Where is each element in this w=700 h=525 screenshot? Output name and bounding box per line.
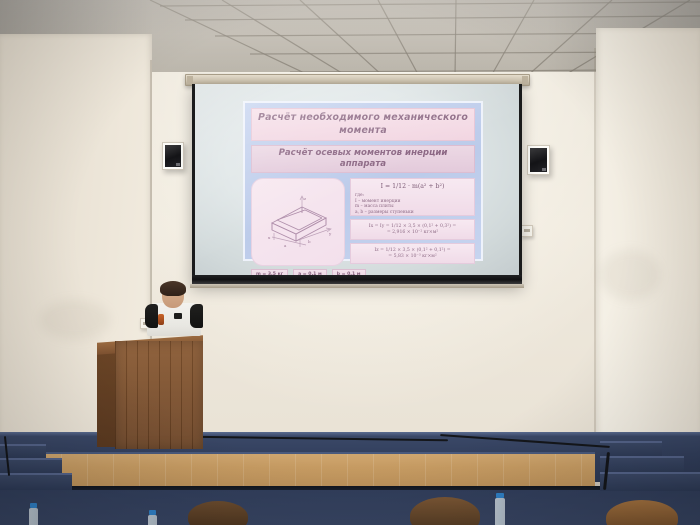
svg-text:x: x bbox=[268, 235, 271, 240]
screen-weight-bar bbox=[192, 275, 522, 284]
wall-speaker-right bbox=[527, 145, 550, 175]
stage-front-panel bbox=[35, 452, 595, 490]
presenter-at-podium bbox=[146, 283, 202, 335]
svg-text:y: y bbox=[328, 231, 332, 236]
outlet-slot bbox=[524, 229, 530, 232]
svg-text:z: z bbox=[304, 196, 306, 201]
water-bottle bbox=[495, 493, 505, 525]
svg-text:b: b bbox=[308, 239, 311, 244]
slide-body: z y x a b I = 1/12 · m(a² + b²) где: I –… bbox=[251, 178, 475, 264]
slide-title: Расчёт необходимого механического момент… bbox=[251, 108, 475, 141]
right-wall bbox=[596, 28, 700, 458]
speaker-badge bbox=[176, 163, 180, 166]
wall-speaker-left bbox=[162, 142, 184, 170]
shirt-logo bbox=[174, 313, 182, 319]
case-end-cap bbox=[522, 76, 528, 83]
step bbox=[600, 472, 700, 491]
slide-subtitle: Расчёт осевых моментов инерции аппарата bbox=[251, 145, 475, 173]
projection-screen: Расчёт необходимого механического момент… bbox=[192, 84, 522, 284]
screen-surface: Расчёт необходимого механического момент… bbox=[195, 84, 519, 275]
wall-smudge bbox=[600, 250, 660, 300]
slide-figure-panel: z y x a b bbox=[251, 178, 345, 266]
formula-block-calc-z: Iz = 1/12 × 3,5 × (0,1² + 0,1²) = = 5,83… bbox=[350, 243, 475, 264]
step bbox=[0, 473, 72, 490]
podium-front-panel bbox=[115, 341, 203, 449]
bottle-body bbox=[495, 498, 505, 525]
audience-head bbox=[188, 501, 248, 525]
wooden-podium bbox=[97, 331, 203, 449]
podium-side-panel bbox=[97, 347, 116, 447]
calc-line: = 5,83 × 10⁻³ кг×м² bbox=[355, 254, 470, 260]
floor-carpet bbox=[0, 490, 700, 525]
water-bottle bbox=[148, 510, 157, 525]
formula-block-main: I = 1/12 · m(a² + b²) где: I – момент ин… bbox=[350, 178, 475, 216]
lecture-hall-photo: Расчёт необходимого механического момент… bbox=[0, 0, 700, 525]
svg-text:a: a bbox=[284, 243, 287, 248]
slide-formula-column: I = 1/12 · m(a² + b²) где: I – момент ин… bbox=[350, 178, 475, 264]
calc-line: = 2,916 × 10⁻² кг×м² bbox=[355, 230, 470, 236]
speaker-badge bbox=[542, 168, 546, 171]
presentation-slide: Расчёт необходимого механического момент… bbox=[243, 101, 483, 261]
presenter-sleeve-right bbox=[190, 304, 203, 328]
stage-steps-left bbox=[0, 436, 72, 488]
presenter-sleeve-left bbox=[145, 304, 158, 328]
bottle-body bbox=[148, 515, 157, 525]
water-bottle bbox=[29, 503, 38, 525]
bottle-body bbox=[29, 508, 38, 525]
legend-line: a, b – размеры ступеньки bbox=[355, 210, 470, 216]
isometric-beam-diagram: z y x a b bbox=[262, 193, 334, 251]
wall-corner-right bbox=[594, 48, 596, 453]
wall-outlet-right[interactable] bbox=[521, 225, 533, 237]
stage-steps-right bbox=[600, 437, 700, 491]
formula-block-calc-xy: Ix = Iy = 1/12 × 3,5 × (0,1² + 0,3²) = =… bbox=[350, 219, 475, 240]
microphone bbox=[158, 314, 164, 325]
screen-bottom-trim bbox=[190, 284, 524, 288]
main-equation: I = 1/12 · m(a² + b²) bbox=[355, 182, 470, 191]
presenter-hair bbox=[160, 281, 186, 296]
case-end-cap bbox=[187, 76, 193, 83]
